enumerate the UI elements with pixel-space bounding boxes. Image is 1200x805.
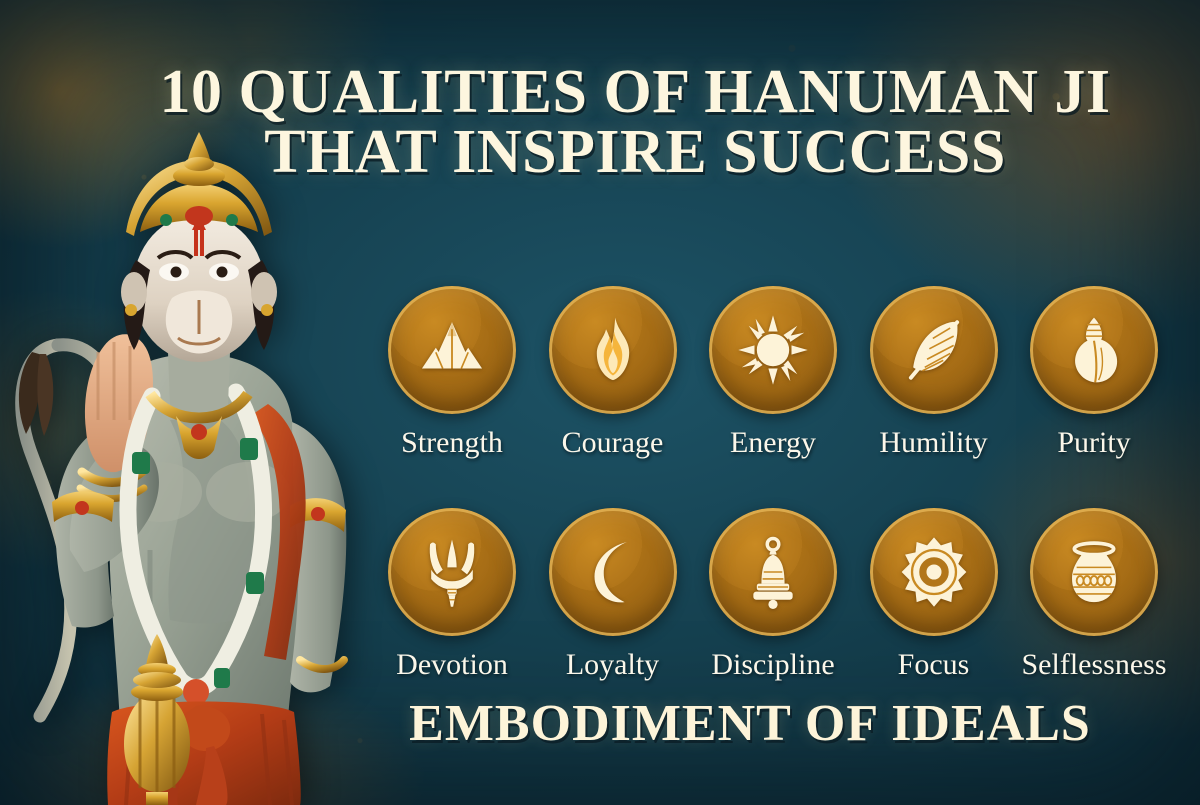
medal-purity[interactable] bbox=[1030, 286, 1158, 414]
leaf-icon bbox=[897, 313, 971, 387]
bell-icon bbox=[736, 535, 810, 609]
title-line-2: THAT INSPIRE SUCCESS bbox=[100, 122, 1170, 182]
quality-label-discipline: Discipline bbox=[711, 648, 834, 682]
medal-focus[interactable] bbox=[870, 508, 998, 636]
medal-courage[interactable] bbox=[549, 286, 677, 414]
footer-banner: EMBODIMENT OF IDEALS bbox=[330, 694, 1170, 753]
crescent-moon-icon bbox=[576, 535, 650, 609]
sun-icon bbox=[736, 313, 810, 387]
medal-energy[interactable] bbox=[709, 286, 837, 414]
quality-label-energy: Energy bbox=[730, 426, 816, 460]
quality-item-loyalty[interactable]: Loyalty bbox=[539, 508, 687, 682]
medal-loyalty[interactable] bbox=[549, 508, 677, 636]
title-line-1: 10 QUALITIES OF HANUMAN JI bbox=[100, 62, 1170, 122]
flame-icon bbox=[576, 313, 650, 387]
medal-humility[interactable] bbox=[870, 286, 998, 414]
medal-devotion[interactable] bbox=[388, 508, 516, 636]
quality-item-selflessness[interactable]: Selflessness bbox=[1020, 508, 1168, 682]
quality-label-purity: Purity bbox=[1057, 426, 1130, 460]
medal-strength[interactable] bbox=[388, 286, 516, 414]
poster-canvas: 10 QUALITIES OF HANUMAN JI THAT INSPIRE … bbox=[0, 0, 1200, 805]
quality-item-devotion[interactable]: Devotion bbox=[378, 508, 526, 682]
poster-title: 10 QUALITIES OF HANUMAN JI THAT INSPIRE … bbox=[100, 62, 1170, 182]
quality-label-selflessness: Selflessness bbox=[1022, 648, 1167, 682]
medal-kalash[interactable] bbox=[1030, 508, 1158, 636]
qualities-grid: Strength Courage bbox=[378, 286, 1168, 682]
qualities-row-1: Strength Courage bbox=[378, 286, 1168, 460]
quality-item-focus[interactable]: Focus bbox=[860, 508, 1008, 682]
quality-item-humility[interactable]: Humility bbox=[860, 286, 1008, 460]
trident-icon bbox=[415, 535, 489, 609]
quality-label-humility: Humility bbox=[879, 426, 987, 460]
conch-shell-icon bbox=[1057, 313, 1131, 387]
quality-item-discipline[interactable]: Discipline bbox=[699, 508, 847, 682]
kalash-pot-icon bbox=[1057, 535, 1131, 609]
qualities-row-2: Devotion Loyalty bbox=[378, 508, 1168, 682]
mountain-icon bbox=[415, 313, 489, 387]
quality-item-energy[interactable]: Energy bbox=[699, 286, 847, 460]
quality-label-devotion: Devotion bbox=[396, 648, 508, 682]
medal-discipline[interactable] bbox=[709, 508, 837, 636]
mandala-icon bbox=[897, 535, 971, 609]
quality-label-loyalty: Loyalty bbox=[566, 648, 659, 682]
quality-item-purity[interactable]: Purity bbox=[1020, 286, 1168, 460]
quality-label-focus: Focus bbox=[898, 648, 970, 682]
quality-label-strength: Strength bbox=[401, 426, 503, 460]
quality-item-strength[interactable]: Strength bbox=[378, 286, 526, 460]
quality-item-courage[interactable]: Courage bbox=[539, 286, 687, 460]
quality-label-courage: Courage bbox=[562, 426, 664, 460]
